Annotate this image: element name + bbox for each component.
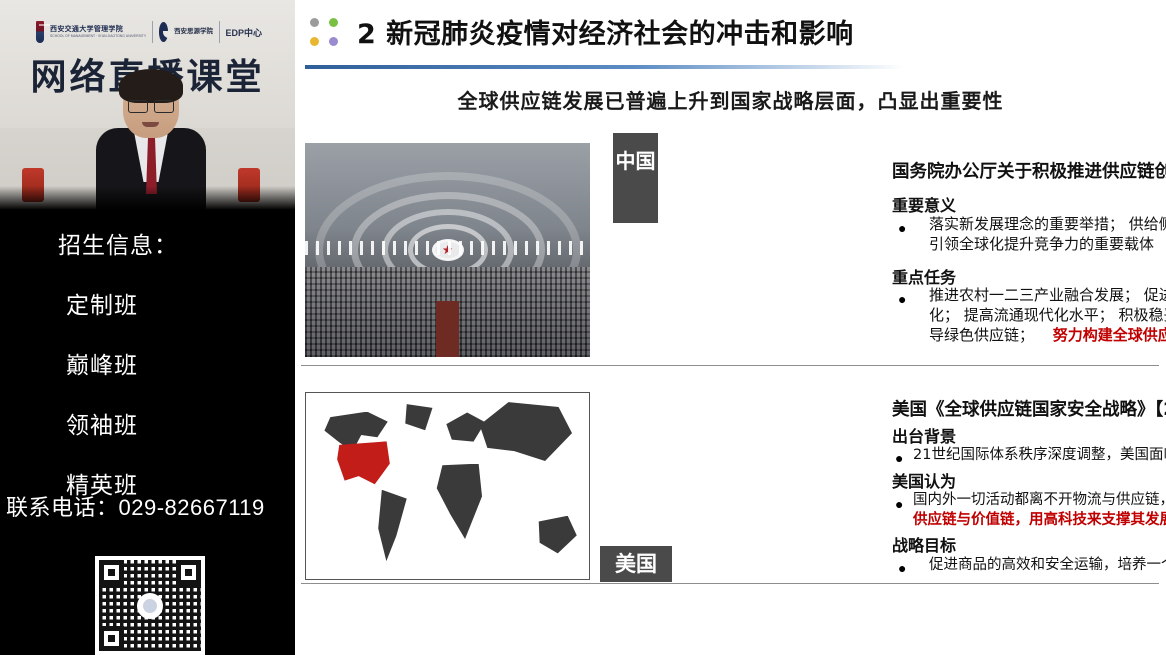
china-highlight: 努力构建全球供应链 xyxy=(1053,326,1166,344)
china-image xyxy=(305,143,590,357)
china-section-0-line-1: 引领全球化提升竞争力的重要载体 xyxy=(929,234,1166,255)
enrollment-item-1: 巅峰班 xyxy=(66,346,295,380)
dot-purple-icon xyxy=(329,37,338,46)
partner-name-label: 西安思源学院 xyxy=(174,28,213,36)
title-underline xyxy=(305,65,905,69)
usa-section-1-pre: 国内外一切活动都离不开物流与供应链， xyxy=(913,492,1166,508)
shield-icon xyxy=(36,21,44,43)
enrollment-info: 招生信息： 定制班 巅峰班 领袖班 精英班 xyxy=(0,212,295,500)
china-section-0-label: 重要意义 xyxy=(892,192,956,216)
bullet-icon: ● xyxy=(895,451,903,465)
usa-section-1-label: 美国认为 xyxy=(892,468,956,492)
tag-usa: 美国 xyxy=(600,546,672,582)
land-south-america xyxy=(368,490,413,564)
usa-section-2-line-0: 促进商品的高效和安全运输，培养一个有弹性的供应链 xyxy=(929,555,1166,575)
glasses-icon xyxy=(128,100,174,111)
china-section-1-line-0: 推进农村一二三产业融合发展； 促进制造协同化、服务化、智能 xyxy=(929,285,1166,306)
enrollment-heading: 招生信息： xyxy=(58,226,295,260)
decor-dots xyxy=(310,18,342,48)
land-usa-highlight xyxy=(337,441,391,486)
land-greenland xyxy=(399,404,436,441)
usa-section-0-line-0: 21世纪国际体系秩序深度调整，美国面临国际政治局势等多方面挑战 xyxy=(913,445,1166,465)
dot-yellow-icon xyxy=(310,37,319,46)
bullet-icon: ● xyxy=(895,497,903,511)
land-africa xyxy=(433,464,490,546)
slide-title: 2 新冠肺炎疫情对经济社会的冲击和影响 xyxy=(357,12,854,51)
usa-heading: 美国《全球供应链国家安全战略》【2012】 xyxy=(892,396,1166,421)
presenter-video[interactable]: 西安交通大学管理学院 SCHOOL OF MANAGEMENT · XI'AN … xyxy=(0,0,295,212)
block-divider-1 xyxy=(301,365,1159,366)
presenter-hair xyxy=(119,69,183,103)
qr-center-logo xyxy=(137,593,163,619)
slide-subtitle: 全球供应链发展已普遍上升到国家战略层面，凸显出重要性 xyxy=(295,85,1166,114)
presenter-mouth xyxy=(142,122,159,127)
usa-section-1-line-1: 供应链与价值链，用高科技来支撑其发展，以取得大国间的平衡与优势。 xyxy=(913,510,1166,530)
slide-area: 2 新冠肺炎疫情对经济社会的冲击和影响 全球供应链发展已普遍上升到国家战略层面，… xyxy=(295,0,1166,655)
wechat-qr-code[interactable] xyxy=(95,556,205,655)
usa-highlight-2: 供应链与价值链，用高科技来支撑其发展 xyxy=(913,512,1166,528)
bullet-icon: ● xyxy=(898,561,906,575)
china-section-1-line-1: 化； 提高流通现代化水平； 积极稳妥发展供应链金融； 积极倡 xyxy=(929,305,1166,326)
china-section-1-line-2: 导绿色供应链； xyxy=(929,326,1034,344)
balcony-lights-upper xyxy=(305,241,590,255)
livestream-panel: 西安交通大学管理学院 SCHOOL OF MANAGEMENT · XI'AN … xyxy=(0,0,295,655)
bullet-icon: ● xyxy=(898,221,906,235)
great-hall-illustration xyxy=(305,143,590,357)
land-asia xyxy=(476,400,572,482)
contact-phone: 联系电话：029-82667119 xyxy=(6,490,289,522)
qr-pattern xyxy=(99,560,201,651)
bullet-icon: ● xyxy=(898,292,906,306)
center-aisle xyxy=(436,301,459,357)
usa-section-0-label: 出台背景 xyxy=(892,423,956,447)
world-map-illustration xyxy=(306,393,589,579)
screen: 西安交通大学管理学院 SCHOOL OF MANAGEMENT · XI'AN … xyxy=(0,0,1166,655)
institution-logo-row: 西安交通大学管理学院 SCHOOL OF MANAGEMENT · XI'AN … xyxy=(36,17,262,47)
video-fade xyxy=(0,186,295,212)
land-australia xyxy=(532,516,577,557)
qr-finder-top-right xyxy=(176,560,201,585)
qr-finder-top-left xyxy=(99,560,124,585)
china-section-0-line-0: 落实新发展理念的重要举措； 供给侧结构性改革的重要抓手； xyxy=(929,214,1166,235)
enrollment-item-0: 定制班 xyxy=(66,286,295,320)
tag-china: 中国 xyxy=(613,133,658,223)
usa-section-1-line-0: 国内外一切活动都离不开物流与供应链，要在全球范围内发展产业链、 xyxy=(913,490,1166,510)
qr-finder-bottom-left xyxy=(99,626,124,651)
enrollment-item-2: 领袖班 xyxy=(66,406,295,440)
school-name-en-label: SCHOOL OF MANAGEMENT · XI'AN JIAOTONG UN… xyxy=(50,34,146,38)
partner-emblem-icon xyxy=(159,22,168,42)
school-name-label: 西安交通大学管理学院 xyxy=(50,26,146,34)
china-section-1-line-2-wrap: 导绿色供应链； 努力构建全球供应链 xyxy=(929,325,1166,346)
dot-green-icon xyxy=(329,18,338,27)
edp-label: EDP中心 xyxy=(225,26,262,39)
usa-map-image xyxy=(305,392,590,580)
land-europe xyxy=(442,412,487,460)
block-divider-2 xyxy=(301,583,1159,584)
dot-gray-icon xyxy=(310,18,319,27)
china-heading: 国务院办公厅关于积极推进供应链创新与应用的指导意见【2017】 xyxy=(892,158,1166,183)
usa-section-2-label: 战略目标 xyxy=(892,532,956,556)
